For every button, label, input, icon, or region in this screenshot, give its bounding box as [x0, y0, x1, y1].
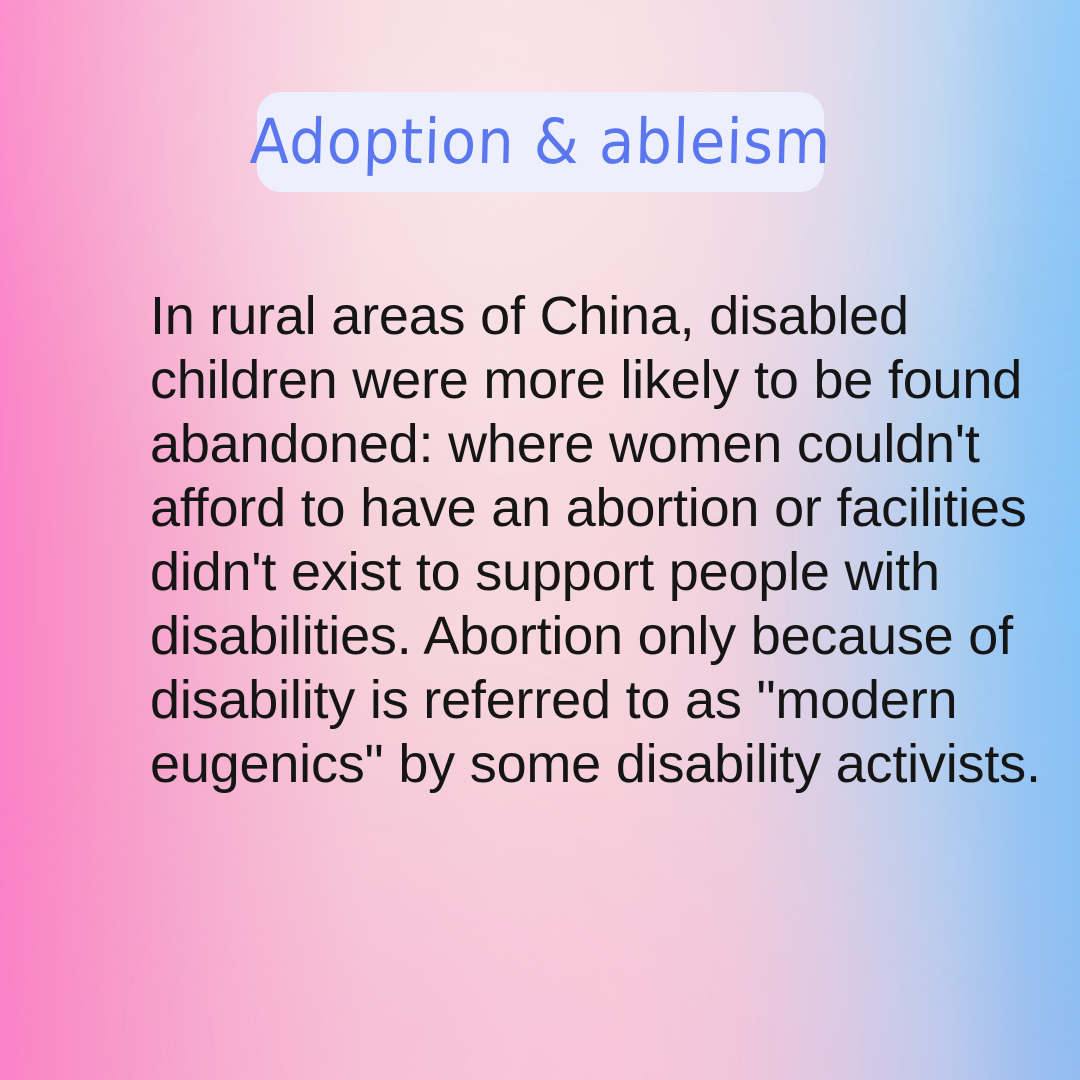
body-line: disability is referred to as "modern [150, 668, 980, 732]
page-title: Adoption & ableism [249, 111, 832, 173]
body-line: eugenics" by some disability activists. [150, 732, 980, 796]
body-text-block: In rural areas of China, disabled childr… [150, 284, 980, 796]
title-pill: Adoption & ableism [257, 92, 824, 192]
body-line: didn't exist to support people with [150, 540, 980, 604]
slide-canvas: Adoption & ableism In rural areas of Chi… [0, 0, 1080, 1080]
body-line: abandoned: where women couldn't [150, 412, 980, 476]
body-line: children were more likely to be found [150, 348, 980, 412]
body-line: In rural areas of China, disabled [150, 284, 980, 348]
body-line: afford to have an abortion or facilities [150, 476, 980, 540]
body-line: disabilities. Abortion only because of [150, 604, 980, 668]
